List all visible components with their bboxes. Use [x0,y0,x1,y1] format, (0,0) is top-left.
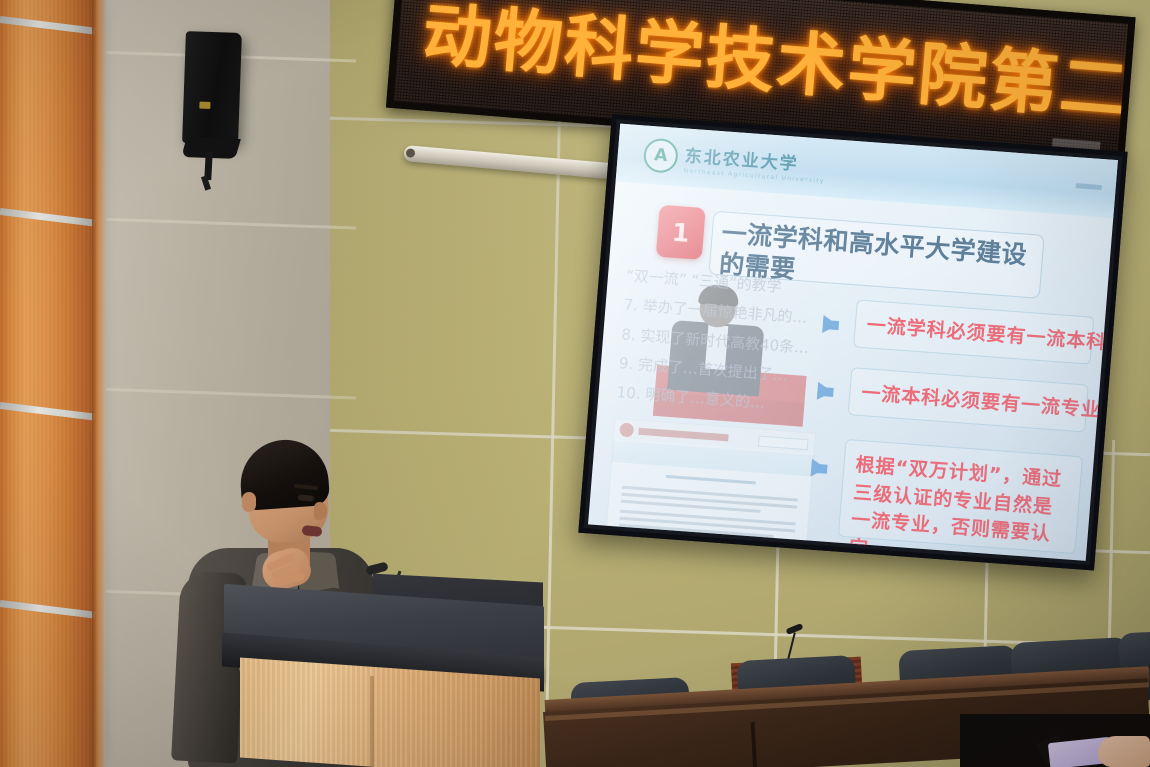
projector-screen-surface: A 东北农业大学 Northeast Agricultural Universi… [588,124,1118,561]
loudspeaker-icon [182,31,242,145]
ghost-web-heading [666,475,756,485]
projector-screen: A 东北农业大学 Northeast Agricultural Universi… [578,114,1127,571]
logo-a-icon: A [642,137,679,173]
wood-column [0,0,96,767]
arrow-bullet-icon [822,315,838,334]
lecture-hall-photo: 动物科学技术学院第二期振英讲坛 A 东北农业大学 Northeast Agric… [0,0,1150,767]
column-band [0,600,96,619]
column-band [0,402,96,421]
podium-edge [370,676,374,767]
foreground-hand [1098,736,1150,767]
presenter-ear [242,492,256,512]
bullet-text: 根据“双万计划”，通过三级认证的专业自然是一流专业，否则需要认定。 [848,452,1070,561]
column-band [0,208,96,227]
presenter-mouth [302,525,323,537]
presenter-eye [298,494,314,501]
arrow-bullet-icon [817,382,833,401]
ghost-website-screenshot [605,418,816,554]
arrow-bullet-icon [811,459,827,478]
column-edge [92,0,106,767]
presentation-slide: A 东北农业大学 Northeast Agricultural Universi… [588,124,1118,561]
section-number-badge: 1 [656,205,706,260]
column-band [0,16,96,35]
